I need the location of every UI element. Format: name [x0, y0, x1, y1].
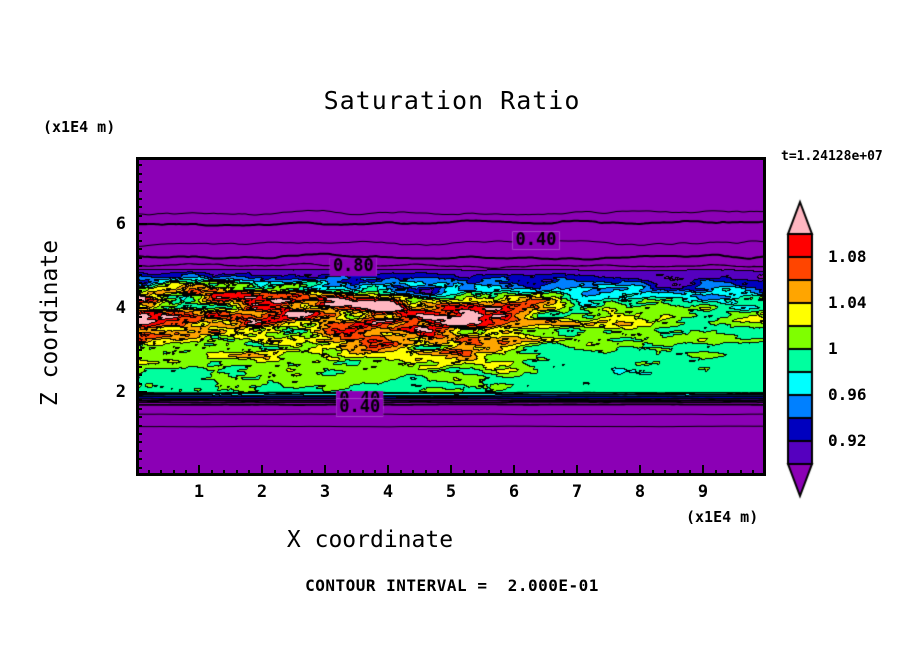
y-minor-tick — [136, 467, 142, 469]
y-tick-label: 4 — [104, 298, 126, 318]
x-major-tick — [639, 465, 641, 476]
x-minor-tick — [223, 470, 225, 476]
y-minor-tick — [136, 164, 142, 166]
x-tick-label: 7 — [565, 482, 589, 502]
x-minor-tick — [752, 470, 754, 476]
x-minor-tick — [185, 470, 187, 476]
x-minor-tick — [374, 470, 376, 476]
contour-field-canvas — [136, 157, 766, 476]
x-minor-tick — [349, 470, 351, 476]
colorbar-tick-label: 1 — [828, 339, 838, 358]
y-tick-label: 6 — [104, 214, 126, 234]
y-minor-tick — [136, 181, 142, 183]
x-axis-title: X coordinate — [0, 527, 740, 553]
x-minor-tick — [463, 470, 465, 476]
y-axis-title: Z coordinate — [37, 213, 63, 433]
x-major-tick — [387, 465, 389, 476]
y-minor-tick — [136, 374, 142, 376]
x-major-tick — [513, 465, 515, 476]
y-minor-tick — [136, 357, 142, 359]
y-minor-tick — [136, 349, 142, 351]
y-minor-tick — [136, 274, 142, 276]
x-minor-tick — [727, 470, 729, 476]
colorbar-tick-label: 1.08 — [828, 247, 867, 266]
x-minor-tick — [236, 470, 238, 476]
figure-root: Saturation Ratio (x1E4 m) (x1E4 m) t=1.2… — [0, 0, 904, 654]
x-axis-unit-label: (x1E4 m) — [686, 508, 758, 526]
y-minor-tick — [136, 190, 142, 192]
x-minor-tick — [589, 470, 591, 476]
x-minor-tick — [538, 470, 540, 476]
contour-interval-caption: CONTOUR INTERVAL = 2.000E-01 — [0, 576, 904, 595]
x-minor-tick — [362, 470, 364, 476]
x-tick-label: 2 — [250, 482, 274, 502]
x-minor-tick — [652, 470, 654, 476]
colorbar-tick-label: 1.04 — [828, 293, 867, 312]
x-major-tick — [261, 465, 263, 476]
colorbar-tick-label: 0.92 — [828, 431, 867, 450]
y-minor-tick — [136, 173, 142, 175]
x-minor-tick — [614, 470, 616, 476]
y-minor-tick — [136, 240, 142, 242]
x-minor-tick — [526, 470, 528, 476]
x-major-tick — [702, 465, 704, 476]
y-axis-unit-label: (x1E4 m) — [43, 118, 115, 136]
y-minor-tick — [136, 458, 142, 460]
x-minor-tick — [286, 470, 288, 476]
x-minor-tick — [274, 470, 276, 476]
x-minor-tick — [148, 470, 150, 476]
x-minor-tick — [677, 470, 679, 476]
x-major-tick — [450, 465, 452, 476]
y-minor-tick — [136, 290, 142, 292]
y-minor-tick — [136, 265, 142, 267]
y-minor-tick — [136, 450, 142, 452]
page-title: Saturation Ratio — [0, 86, 904, 115]
x-minor-tick — [412, 470, 414, 476]
x-minor-tick — [689, 470, 691, 476]
y-minor-tick — [136, 441, 142, 443]
x-minor-tick — [425, 470, 427, 476]
x-tick-label: 4 — [376, 482, 400, 502]
x-minor-tick — [664, 470, 666, 476]
y-minor-tick — [136, 366, 142, 368]
y-minor-tick — [136, 324, 142, 326]
y-minor-tick — [136, 232, 142, 234]
x-minor-tick — [248, 470, 250, 476]
y-minor-tick — [136, 433, 142, 435]
x-minor-tick — [437, 470, 439, 476]
y-minor-tick — [136, 341, 142, 343]
y-minor-tick — [136, 316, 142, 318]
x-minor-tick — [500, 470, 502, 476]
y-minor-tick — [136, 215, 142, 217]
y-minor-tick — [136, 206, 142, 208]
x-tick-label: 1 — [187, 482, 211, 502]
x-tick-label: 8 — [628, 482, 652, 502]
y-minor-tick — [136, 299, 142, 301]
x-minor-tick — [400, 470, 402, 476]
x-minor-tick — [715, 470, 717, 476]
y-major-tick — [136, 223, 147, 225]
colorbar-tick-label: 0.96 — [828, 385, 867, 404]
x-minor-tick — [211, 470, 213, 476]
y-minor-tick — [136, 198, 142, 200]
colorbar — [780, 198, 820, 500]
x-tick-label: 3 — [313, 482, 337, 502]
plot-area — [136, 157, 766, 476]
x-tick-label: 6 — [502, 482, 526, 502]
x-minor-tick — [337, 470, 339, 476]
x-major-tick — [198, 465, 200, 476]
y-minor-tick — [136, 248, 142, 250]
x-major-tick — [324, 465, 326, 476]
y-tick-label: 2 — [104, 382, 126, 402]
x-minor-tick — [626, 470, 628, 476]
y-major-tick — [136, 391, 147, 393]
x-major-tick — [576, 465, 578, 476]
y-minor-tick — [136, 416, 142, 418]
x-minor-tick — [740, 470, 742, 476]
x-tick-label: 9 — [691, 482, 715, 502]
x-minor-tick — [299, 470, 301, 476]
x-minor-tick — [563, 470, 565, 476]
y-major-tick — [136, 307, 147, 309]
colorbar-canvas — [780, 198, 820, 500]
x-minor-tick — [173, 470, 175, 476]
x-minor-tick — [551, 470, 553, 476]
y-minor-tick — [136, 399, 142, 401]
x-minor-tick — [311, 470, 313, 476]
y-minor-tick — [136, 408, 142, 410]
timestamp-label: t=1.24128e+07 — [781, 149, 904, 164]
x-minor-tick — [601, 470, 603, 476]
x-minor-tick — [160, 470, 162, 476]
y-minor-tick — [136, 383, 142, 385]
y-minor-tick — [136, 425, 142, 427]
y-minor-tick — [136, 282, 142, 284]
x-minor-tick — [475, 470, 477, 476]
x-tick-label: 5 — [439, 482, 463, 502]
x-minor-tick — [488, 470, 490, 476]
y-minor-tick — [136, 257, 142, 259]
y-minor-tick — [136, 332, 142, 334]
